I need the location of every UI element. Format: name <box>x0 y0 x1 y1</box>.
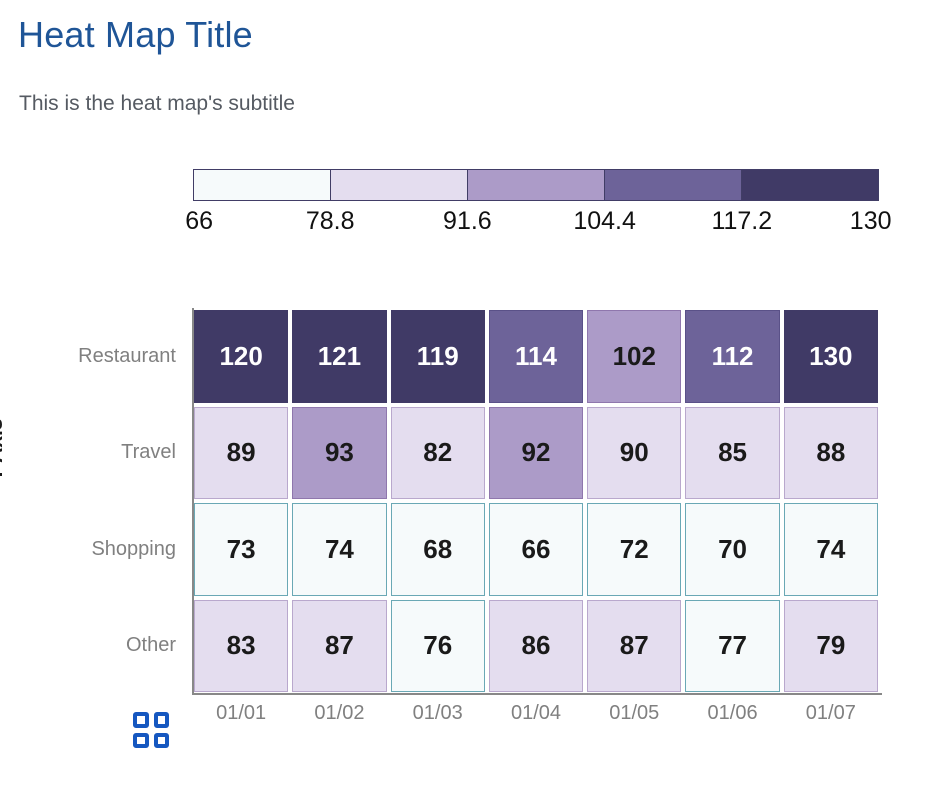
heatmap-cell[interactable]: 66 <box>489 503 583 596</box>
heatmap-cell[interactable]: 77 <box>685 600 779 693</box>
x-axis-label: 01/01 <box>192 702 290 725</box>
heatmap-cell[interactable]: 120 <box>194 310 288 403</box>
x-axis-label: 01/03 <box>389 702 487 725</box>
x-axis-label: 01/04 <box>487 702 585 725</box>
heatmap-cell[interactable]: 88 <box>784 407 878 500</box>
heatmap-cell[interactable]: 114 <box>489 310 583 403</box>
y-axis-label-shopping: Shopping <box>0 501 192 598</box>
heatmap-row: 89938292908588 <box>192 405 880 502</box>
heatmap-cell[interactable]: 86 <box>489 600 583 693</box>
heatmap-cell[interactable]: 85 <box>685 407 779 500</box>
heatmap-row: 73746866727074 <box>192 501 880 598</box>
heatmap-row: 120121119114102112130 <box>192 308 880 405</box>
heatmap-cell[interactable]: 74 <box>784 503 878 596</box>
y-axis-label-restaurant: Restaurant <box>0 308 192 405</box>
heatmap-cell[interactable]: 87 <box>292 600 386 693</box>
heatmap-cell[interactable]: 121 <box>292 310 386 403</box>
heatmap-cell[interactable]: 87 <box>587 600 681 693</box>
heatmap-cell[interactable]: 92 <box>489 407 583 500</box>
heatmap-cell[interactable]: 93 <box>292 407 386 500</box>
heatmap-cell[interactable]: 68 <box>391 503 485 596</box>
x-axis-label: 01/06 <box>683 702 781 725</box>
heatmap-cell[interactable]: 73 <box>194 503 288 596</box>
heatmap-cell[interactable]: 72 <box>587 503 681 596</box>
grid-view-icon[interactable] <box>133 712 169 748</box>
x-axis-label: 01/05 <box>585 702 683 725</box>
heatmap-cell[interactable]: 82 <box>391 407 485 500</box>
heatmap-cell[interactable]: 76 <box>391 600 485 693</box>
heatmap-cell[interactable]: 70 <box>685 503 779 596</box>
heatmap-cell[interactable]: 112 <box>685 310 779 403</box>
heatmap-cell[interactable]: 102 <box>587 310 681 403</box>
heatmap-grid: 1201211191141021121308993829290858873746… <box>192 308 880 694</box>
grid-icon-square <box>154 733 170 749</box>
heatmap-cell[interactable]: 90 <box>587 407 681 500</box>
heatmap-plot-area: Y Axis RestaurantTravelShoppingOther 120… <box>0 0 942 790</box>
heatmap-cell[interactable]: 79 <box>784 600 878 693</box>
y-axis-tick-labels: RestaurantTravelShoppingOther <box>0 308 192 694</box>
y-axis-label-travel: Travel <box>0 405 192 502</box>
heatmap-cell[interactable]: 89 <box>194 407 288 500</box>
grid-icon-square <box>133 733 149 749</box>
heatmap-cell[interactable]: 130 <box>784 310 878 403</box>
heatmap-cell[interactable]: 83 <box>194 600 288 693</box>
x-axis-tick-labels: 01/0101/0201/0301/0401/0501/0601/07 <box>192 702 880 725</box>
heatmap-row: 83877686877779 <box>192 598 880 695</box>
grid-icon-square <box>133 712 149 728</box>
y-axis-label-other: Other <box>0 598 192 695</box>
grid-icon-square <box>154 712 170 728</box>
heatmap-cell[interactable]: 74 <box>292 503 386 596</box>
x-axis-label: 01/02 <box>290 702 388 725</box>
x-axis-label: 01/07 <box>782 702 880 725</box>
heatmap-cell[interactable]: 119 <box>391 310 485 403</box>
